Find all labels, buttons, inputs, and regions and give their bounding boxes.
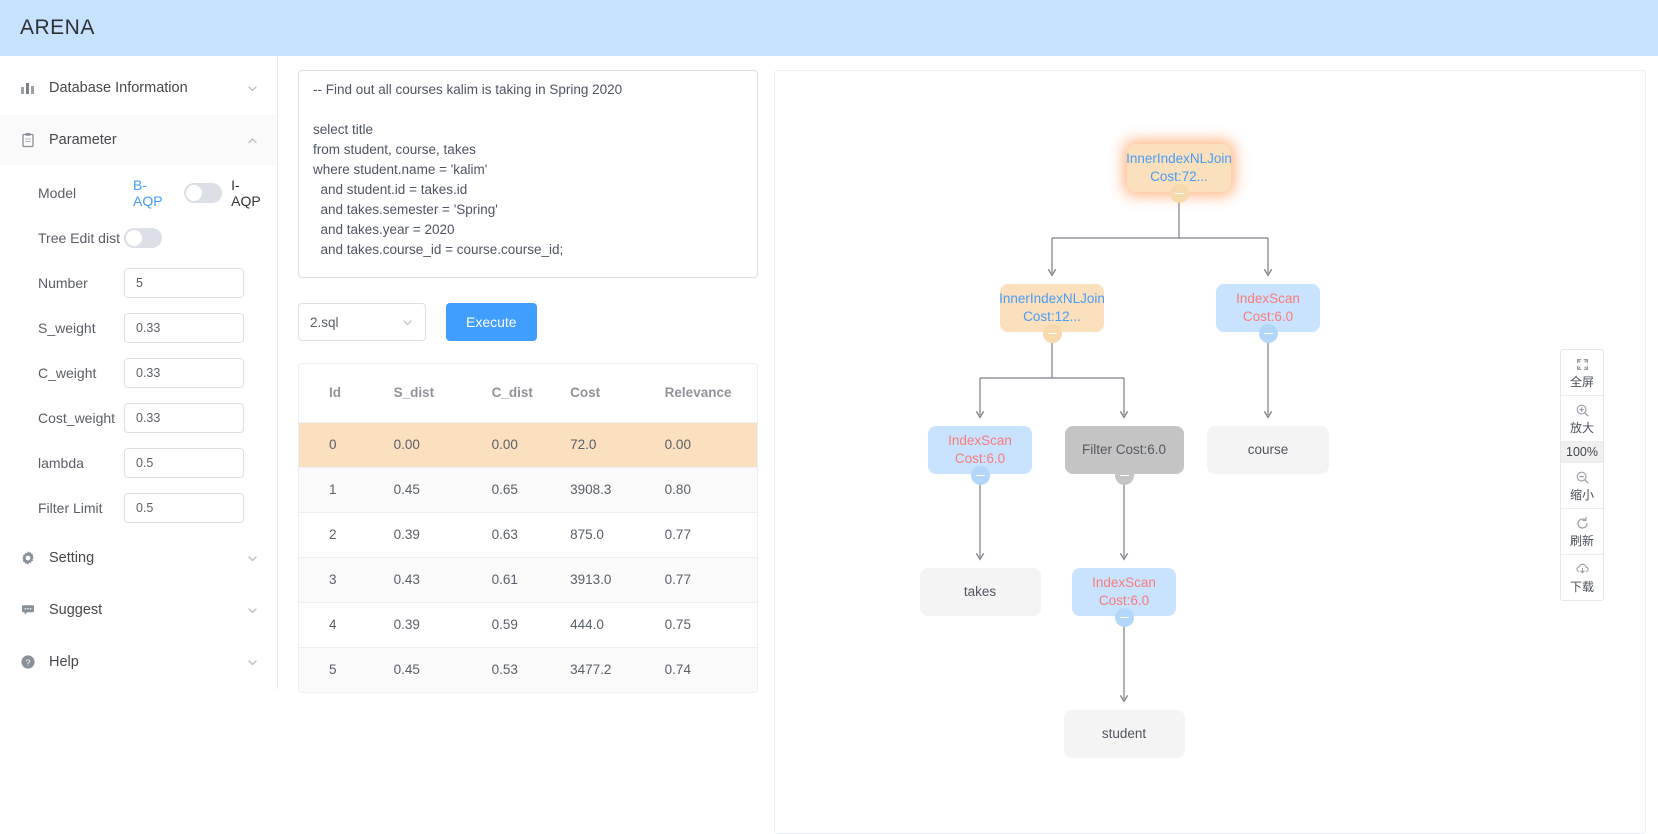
- plan-node-label: InnerIndexNLJoinCost:12...: [999, 290, 1105, 326]
- table-cell-id: 0: [299, 422, 394, 467]
- toolbar-download-label: 下载: [1561, 578, 1603, 595]
- collapse-toggle-icon[interactable]: [1259, 324, 1278, 343]
- column-header-relevance[interactable]: Relevance: [665, 364, 757, 422]
- table-cell-cost: 3908.3: [570, 467, 665, 512]
- app-header: ARENA: [0, 0, 1658, 56]
- param-row-lambda: lambda: [0, 440, 277, 485]
- param-label-filter-limit: Filter Limit: [38, 500, 124, 516]
- chat-icon: [18, 600, 38, 620]
- param-label-number: Number: [38, 275, 124, 291]
- table-row[interactable]: 00.000.0072.00.00: [299, 422, 757, 467]
- filter-limit-input[interactable]: [124, 493, 244, 523]
- sidebar-item-label: Parameter: [49, 132, 246, 148]
- collapse-toggle-icon[interactable]: [971, 466, 990, 485]
- number-input[interactable]: [124, 268, 244, 298]
- sidebar-item-label: Suggest: [49, 602, 246, 618]
- bar-chart-icon: [18, 78, 38, 98]
- toolbar-zoom-out-label: 缩小: [1561, 486, 1603, 503]
- table-cell-c-dist: 0.63: [492, 512, 570, 557]
- table-cell-c-dist: 0.65: [492, 467, 570, 512]
- plan-node-label: student: [1102, 725, 1146, 743]
- table-cell-relevance: 0.74: [665, 647, 757, 692]
- sidebar-item-setting[interactable]: Setting: [0, 532, 277, 584]
- table-cell-id: 2: [299, 512, 394, 557]
- table-cell-s-dist: 0.00: [394, 422, 492, 467]
- sidebar-item-database-information[interactable]: Database Information: [0, 62, 277, 114]
- collapse-toggle-icon[interactable]: [1170, 184, 1189, 203]
- table-cell-relevance: 0.77: [665, 557, 757, 602]
- toolbar-zoom-in-button[interactable]: 放大: [1561, 396, 1603, 442]
- cost-weight-input[interactable]: [124, 403, 244, 433]
- model-option-b-aqp[interactable]: B-AQP: [133, 177, 175, 209]
- sql-editor-wrapper: [298, 70, 758, 283]
- table-cell-id: 4: [299, 602, 394, 647]
- param-label-lambda: lambda: [38, 455, 124, 471]
- table-cell-s-dist: 0.43: [394, 557, 492, 602]
- toolbar-refresh-label: 刷新: [1561, 532, 1603, 549]
- plan-node-label: InnerIndexNLJoinCost:72...: [1126, 150, 1232, 186]
- plan-node-label: IndexScanCost:6.0: [1236, 290, 1300, 326]
- zoom-out-icon: [1561, 469, 1603, 485]
- model-option-i-aqp[interactable]: I-AQP: [231, 177, 268, 209]
- column-header-id[interactable]: Id: [299, 364, 394, 422]
- plan-node-label: takes: [964, 583, 996, 601]
- table-cell-cost: 3913.0: [570, 557, 665, 602]
- zoom-level-display: 100%: [1561, 442, 1603, 463]
- plan-node-label: course: [1248, 441, 1289, 459]
- table-cell-c-dist: 0.00: [492, 422, 570, 467]
- graph-toolbar: 全屏 放大 100% 缩小: [1560, 349, 1604, 601]
- plan-column: InnerIndexNLJoinCost:72...InnerIndexNLJo…: [768, 56, 1658, 834]
- chevron-down-icon[interactable]: [246, 82, 259, 95]
- column-header-c-dist[interactable]: C_dist: [492, 364, 570, 422]
- app-brand: ARENA: [20, 16, 95, 40]
- sidebar: Database Information Parameter Model B-A…: [0, 56, 278, 689]
- results-table-card: Id S_dist C_dist Cost Relevance 00.000.0…: [298, 363, 758, 693]
- parameter-panel: Model B-AQP I-AQP Tree Edit dist Number …: [0, 166, 277, 532]
- toolbar-zoom-out-button[interactable]: 缩小: [1561, 463, 1603, 509]
- sidebar-item-label: Help: [49, 654, 246, 670]
- param-label-model: Model: [38, 185, 124, 201]
- plan-node-n6[interactable]: takes: [920, 568, 1041, 616]
- param-row-model: Model B-AQP I-AQP: [0, 170, 277, 215]
- table-cell-cost: 72.0: [570, 422, 665, 467]
- chevron-down-icon: [401, 316, 414, 329]
- s-weight-input[interactable]: [124, 313, 244, 343]
- chevron-down-icon[interactable]: [246, 552, 259, 565]
- table-cell-relevance: 0.80: [665, 467, 757, 512]
- sidebar-item-parameter[interactable]: Parameter: [0, 114, 277, 166]
- param-row-tree-edit-dist: Tree Edit dist: [0, 215, 277, 260]
- table-row[interactable]: 20.390.63875.00.77: [299, 512, 757, 557]
- fullscreen-icon: [1561, 356, 1603, 372]
- table-cell-c-dist: 0.53: [492, 647, 570, 692]
- results-table: Id S_dist C_dist Cost Relevance 00.000.0…: [299, 364, 757, 692]
- plan-tree-card: InnerIndexNLJoinCost:72...InnerIndexNLJo…: [774, 70, 1646, 834]
- param-row-filter-limit: Filter Limit: [0, 485, 277, 530]
- tree-edit-dist-toggle[interactable]: [124, 228, 162, 248]
- zoom-in-icon: [1561, 402, 1603, 418]
- chevron-down-icon[interactable]: [246, 656, 259, 669]
- model-toggle[interactable]: [184, 183, 222, 203]
- download-icon: [1561, 561, 1603, 577]
- param-row-s-weight: S_weight: [0, 305, 277, 350]
- sql-input[interactable]: [298, 70, 758, 278]
- table-cell-relevance: 0.00: [665, 422, 757, 467]
- sql-file-select-value: 2.sql: [310, 315, 401, 330]
- table-row[interactable]: 10.450.653908.30.80: [299, 467, 757, 512]
- page-body: Database Information Parameter Model B-A…: [0, 56, 1658, 834]
- table-cell-relevance: 0.75: [665, 602, 757, 647]
- param-label-tree-edit-dist: Tree Edit dist: [38, 230, 124, 246]
- param-row-cost-weight: Cost_weight: [0, 395, 277, 440]
- toggle-knob: [186, 185, 202, 201]
- table-row[interactable]: 50.450.533477.20.74: [299, 647, 757, 692]
- table-cell-cost: 3477.2: [570, 647, 665, 692]
- plan-node-label: IndexScanCost:6.0: [1092, 574, 1156, 610]
- table-cell-s-dist: 0.39: [394, 602, 492, 647]
- refresh-icon: [1561, 515, 1603, 531]
- clipboard-icon: [18, 130, 38, 150]
- table-row[interactable]: 40.390.59444.00.75: [299, 602, 757, 647]
- table-cell-relevance: 0.77: [665, 512, 757, 557]
- sidebar-item-help[interactable]: ? Help: [0, 636, 277, 688]
- plan-tree[interactable]: InnerIndexNLJoinCost:72...InnerIndexNLJo…: [775, 71, 1645, 833]
- column-header-cost[interactable]: Cost: [570, 364, 665, 422]
- toolbar-zoom-in-label: 放大: [1561, 419, 1603, 436]
- collapse-toggle-icon[interactable]: [1115, 608, 1134, 627]
- table-cell-cost: 875.0: [570, 512, 665, 557]
- lambda-input[interactable]: [124, 448, 244, 478]
- collapse-toggle-icon[interactable]: [1115, 466, 1134, 485]
- chevron-down-icon[interactable]: [246, 604, 259, 617]
- query-column: 2.sql Execute Id S_dist C_dist Cost Rele…: [278, 56, 768, 693]
- table-cell-c-dist: 0.61: [492, 557, 570, 602]
- c-weight-input[interactable]: [124, 358, 244, 388]
- toolbar-fullscreen-label: 全屏: [1561, 373, 1603, 390]
- param-row-c-weight: C_weight: [0, 350, 277, 395]
- plan-node-n5[interactable]: course: [1207, 426, 1329, 474]
- plan-node-label: IndexScanCost:6.0: [948, 432, 1012, 468]
- param-row-number: Number: [0, 260, 277, 305]
- sidebar-item-label: Database Information: [49, 80, 246, 96]
- plan-node-n8[interactable]: student: [1064, 710, 1185, 758]
- results-table-head: Id S_dist C_dist Cost Relevance: [299, 364, 757, 422]
- execute-button[interactable]: Execute: [446, 303, 537, 341]
- param-label-cost-weight: Cost_weight: [38, 410, 124, 426]
- column-header-s-dist[interactable]: S_dist: [394, 364, 492, 422]
- param-label-s-weight: S_weight: [38, 320, 124, 336]
- param-label-c-weight: C_weight: [38, 365, 124, 381]
- results-table-body: 00.000.0072.00.0010.450.653908.30.8020.3…: [299, 422, 757, 692]
- table-cell-s-dist: 0.39: [394, 512, 492, 557]
- table-row[interactable]: 30.430.613913.00.77: [299, 557, 757, 602]
- sidebar-item-suggest[interactable]: Suggest: [0, 584, 277, 636]
- collapse-toggle-icon[interactable]: [1043, 324, 1062, 343]
- table-cell-cost: 444.0: [570, 602, 665, 647]
- svg-text:?: ?: [26, 657, 31, 667]
- chevron-up-icon[interactable]: [246, 134, 259, 147]
- table-cell-s-dist: 0.45: [394, 467, 492, 512]
- sql-file-select[interactable]: 2.sql: [298, 303, 426, 341]
- toolbar-download-button[interactable]: 下载: [1561, 555, 1603, 600]
- toolbar-fullscreen-button[interactable]: 全屏: [1561, 350, 1603, 396]
- table-cell-c-dist: 0.59: [492, 602, 570, 647]
- toolbar-refresh-button[interactable]: 刷新: [1561, 509, 1603, 555]
- table-cell-id: 5: [299, 647, 394, 692]
- query-controls: 2.sql Execute: [298, 303, 768, 341]
- table-cell-id: 3: [299, 557, 394, 602]
- question-circle-icon: ?: [18, 652, 38, 672]
- toggle-knob: [126, 230, 142, 246]
- plan-node-label: Filter Cost:6.0: [1082, 441, 1166, 459]
- table-cell-s-dist: 0.45: [394, 647, 492, 692]
- table-cell-id: 1: [299, 467, 394, 512]
- results-header-row: Id S_dist C_dist Cost Relevance: [299, 364, 757, 422]
- sidebar-item-label: Setting: [49, 550, 246, 566]
- gear-icon: [18, 548, 38, 568]
